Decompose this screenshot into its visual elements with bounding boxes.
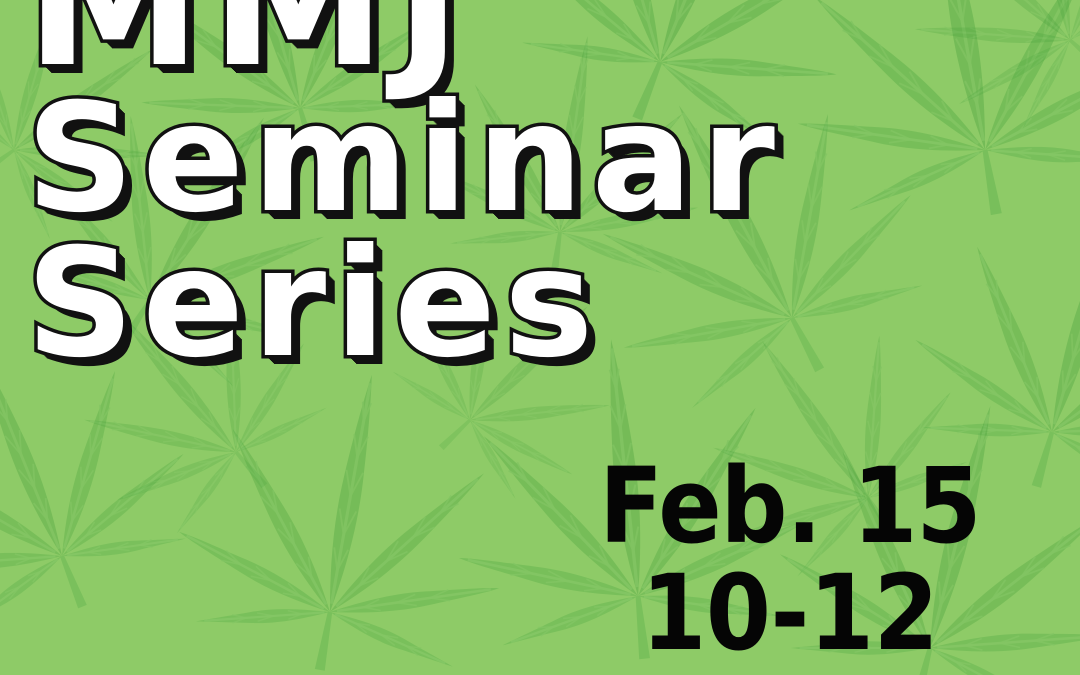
event-date: Feb. 15 (600, 453, 981, 560)
event-date-block: Feb. 15 10-12 (578, 453, 1002, 667)
poster-canvas: MMJ Seminar Series Feb. 15 10-12 (0, 0, 1080, 675)
headline-block: MMJ Seminar Series (26, 0, 1066, 375)
headline-line-series: Series (26, 235, 1066, 375)
event-time: 10-12 (600, 560, 981, 667)
headline-line-seminar: Seminar (26, 90, 1066, 230)
cannabis-leaf-icon (157, 346, 534, 675)
